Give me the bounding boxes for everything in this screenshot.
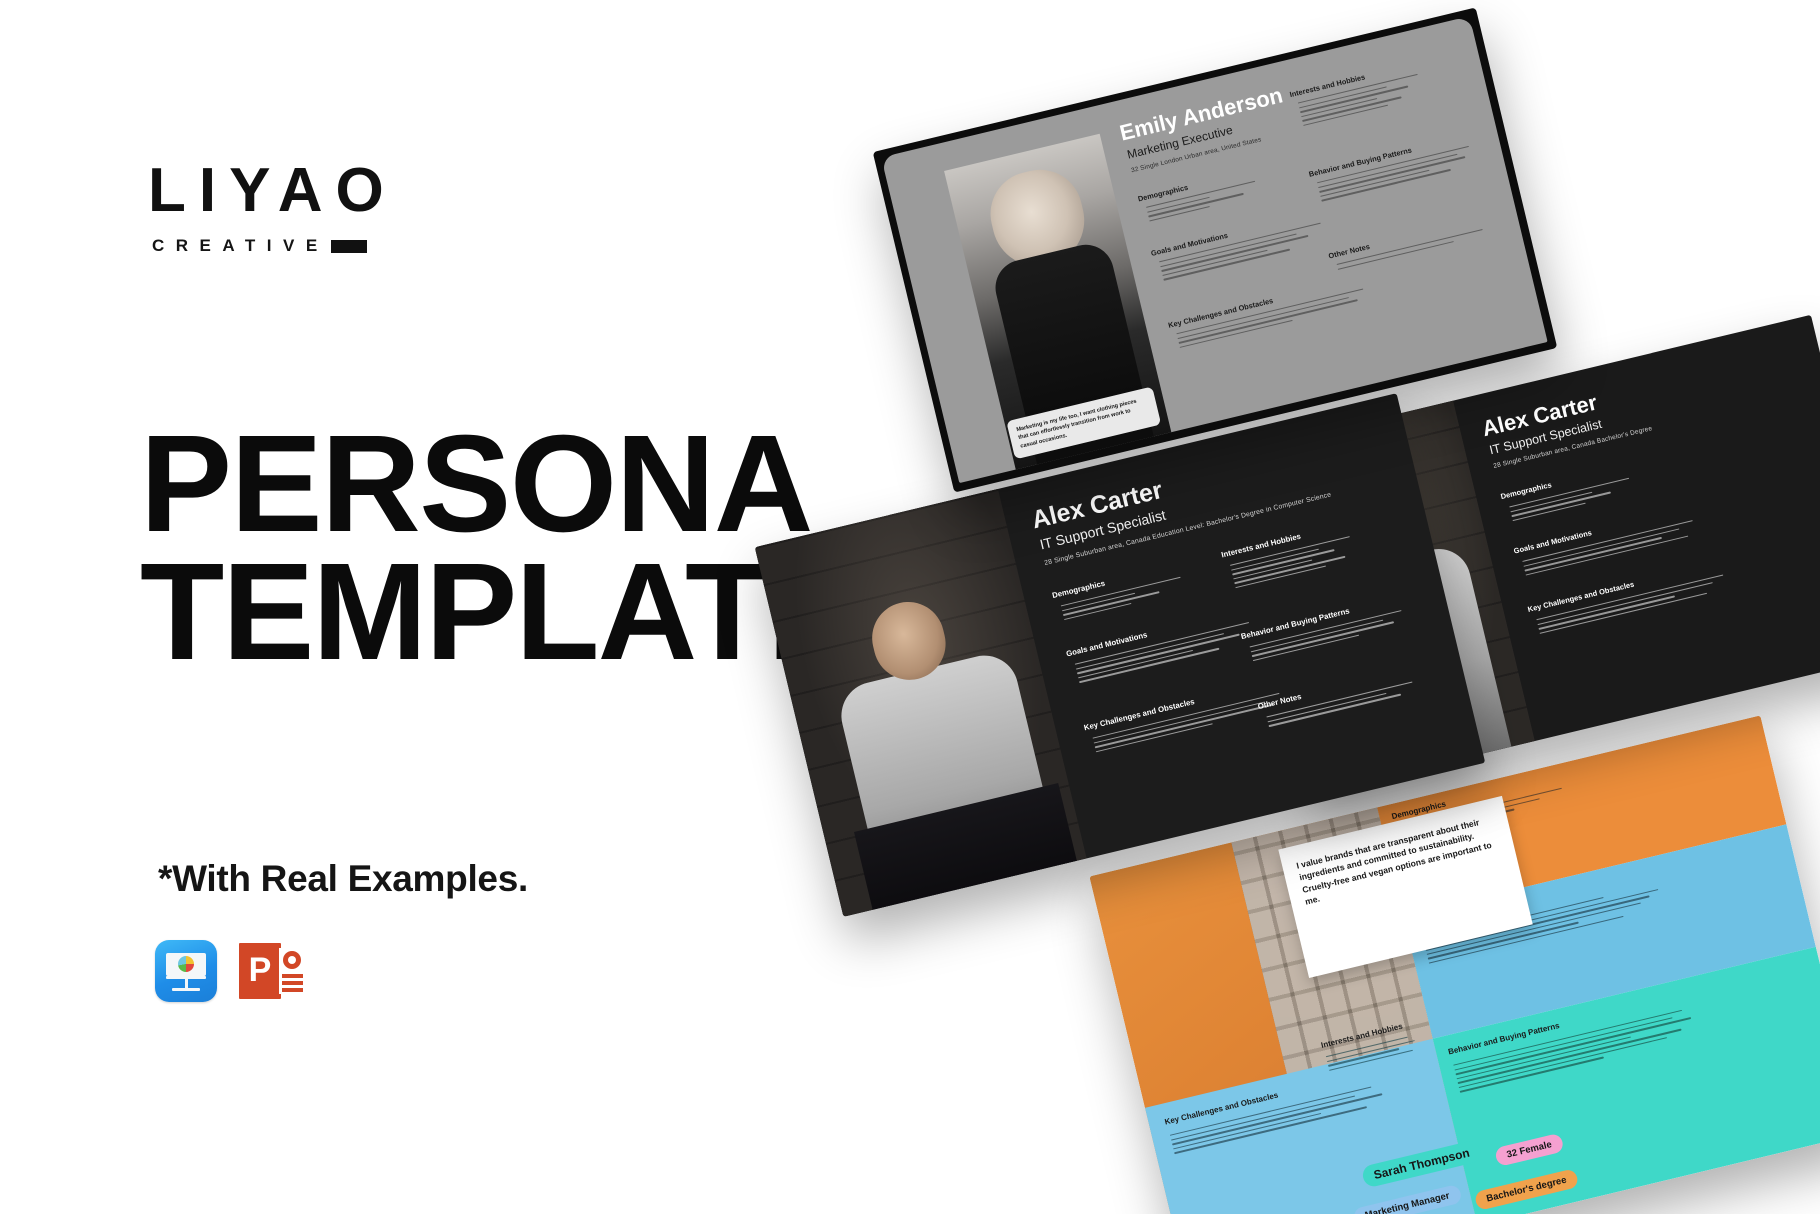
powerpoint-icon[interactable]: P (239, 940, 303, 1002)
powerpoint-body: P (239, 943, 281, 999)
powerpoint-page (279, 948, 303, 994)
powerpoint-letter: P (249, 953, 272, 987)
brand-mark-icon (331, 240, 367, 253)
keynote-screen (166, 953, 206, 976)
powerpoint-bar-3 (282, 988, 303, 992)
subtitle: *With Real Examples. (158, 858, 528, 900)
keynote-icon[interactable] (155, 940, 217, 1002)
keynote-foot (172, 988, 200, 991)
slide-mockups: I value brands that are transparent abou… (760, 0, 1820, 1214)
alex-a-photo (755, 489, 1087, 917)
brand-logo-word: LIYAO (148, 160, 397, 222)
powerpoint-donut-icon (283, 951, 301, 969)
sarah-sections: Demographics Goals and Motivations Behav… (1377, 715, 1820, 1214)
app-format-icons: P (155, 940, 303, 1002)
brand-logo-subrow: CREATIVE (152, 236, 397, 256)
brand-logo-sub: CREATIVE (152, 236, 329, 256)
powerpoint-bar-1 (282, 974, 303, 978)
keynote-pie-icon (178, 956, 194, 972)
poster-canvas: LIYAO CREATIVE PERSONA TEMPLATES *With R… (0, 0, 1820, 1214)
powerpoint-bar-2 (282, 981, 303, 985)
left-panel: LIYAO CREATIVE PERSONA TEMPLATES *With R… (0, 0, 880, 1214)
brand-logo: LIYAO CREATIVE (148, 160, 397, 256)
